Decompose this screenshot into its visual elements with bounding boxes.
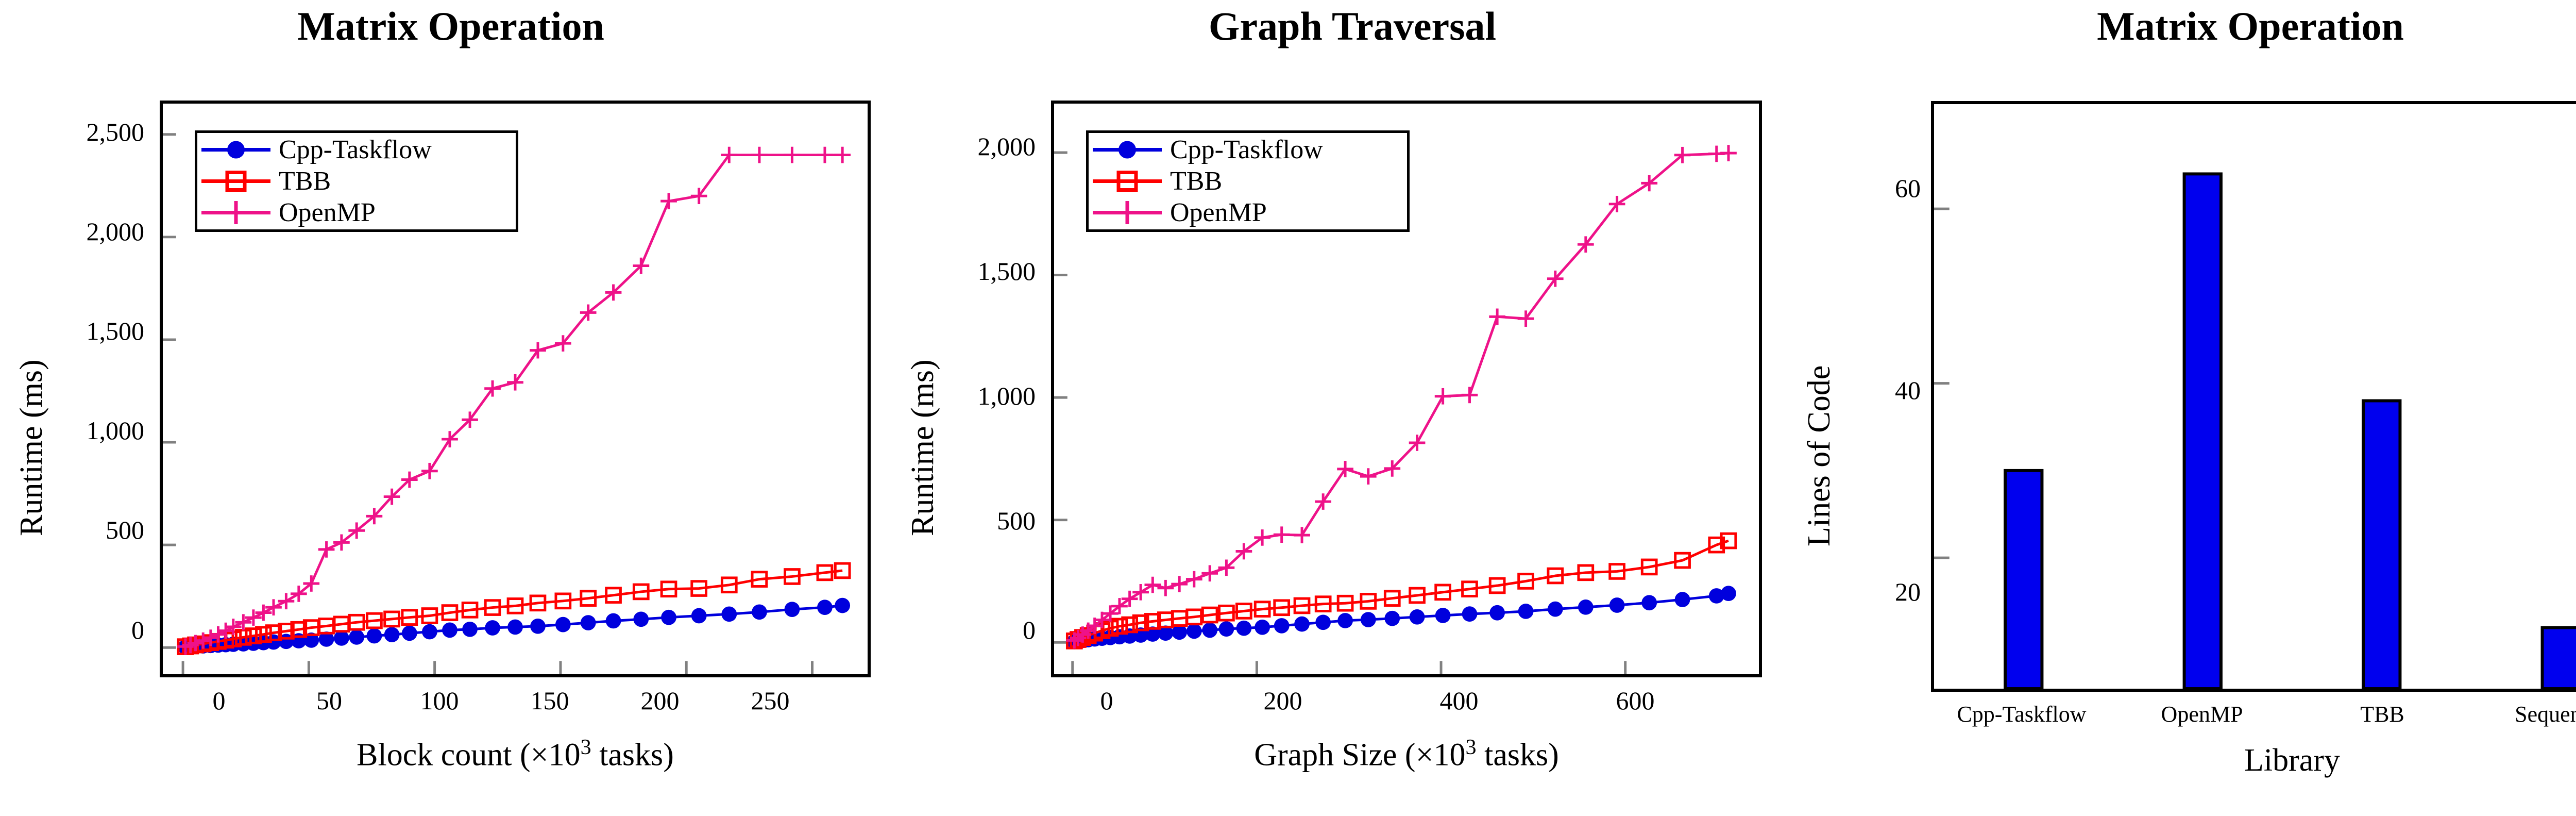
ytick-label: 60 [1808, 173, 1921, 203]
legend-row-openmp: OpenMP [1089, 197, 1407, 228]
legend-label: OpenMP [275, 197, 385, 228]
xtick-label: 0 [1100, 686, 1113, 715]
legend-label: TBB [1166, 166, 1231, 196]
legend-row-openmp: OpenMP [197, 197, 516, 228]
ytick-label: 2,000 [912, 131, 1036, 161]
xtick-label: 600 [1616, 686, 1655, 715]
legend: Cpp-Taskflow TBB OpenMP [1086, 130, 1410, 232]
xtick-label: 50 [316, 686, 342, 715]
plot-area [1931, 101, 2576, 692]
panel-matrix-operation-loc: Matrix Operation 20 40 60 Cpp-Taskflow O… [1803, 0, 2576, 816]
xtick-label: 200 [641, 686, 680, 715]
category-label: Cpp-Taskflow [1957, 701, 2086, 727]
legend-row-taskflow: Cpp-Taskflow [1089, 134, 1407, 165]
xtick-label: 400 [1440, 686, 1479, 715]
y-axis-label: Runtime (ms) [13, 359, 50, 536]
legend-row-tbb: TBB [197, 165, 516, 197]
ytick-label: 2,500 [21, 117, 144, 147]
legend-symbol-open-square [197, 165, 275, 197]
xtick-label: 200 [1264, 686, 1302, 715]
x-axis-label: Graph Size (×103 tasks) [1051, 735, 1762, 774]
legend-label: TBB [275, 166, 340, 196]
ytick-label: 0 [912, 615, 1036, 645]
legend-symbol-filled-circle [1089, 134, 1166, 165]
legend-symbol-open-square [1089, 165, 1166, 197]
ytick-label: 2,000 [21, 217, 144, 246]
legend-label: Cpp-Taskflow [275, 135, 441, 165]
xtick-label: 0 [213, 686, 226, 715]
ytick-label: 1,500 [21, 316, 144, 346]
ytick-label: 20 [1808, 577, 1921, 607]
legend-row-tbb: TBB [1089, 165, 1407, 197]
category-label: OpenMP [2161, 701, 2243, 727]
category-label: Sequential [2515, 701, 2576, 727]
panel-title: Graph Traversal [902, 3, 1803, 49]
legend-symbol-plus [197, 197, 275, 228]
y-axis-label: Lines of Code [1801, 365, 1838, 546]
xtick-label: 250 [751, 686, 790, 715]
xtick-label: 150 [531, 686, 569, 715]
legend-label: OpenMP [1166, 197, 1276, 228]
x-axis-label: Library [1931, 742, 2576, 779]
xtick-label: 100 [420, 686, 459, 715]
ytick-label: 1,500 [912, 256, 1036, 286]
legend-row-taskflow: Cpp-Taskflow [197, 134, 516, 165]
panel-matrix-operation-runtime: Matrix Operation 0 500 1,000 1,500 2,000… [0, 0, 902, 816]
legend: Cpp-Taskflow TBB OpenMP [195, 130, 518, 232]
panel-title: Matrix Operation [1803, 3, 2576, 49]
category-label: TBB [2360, 701, 2404, 727]
y-axis-label: Runtime (ms) [905, 359, 941, 536]
legend-symbol-filled-circle [197, 134, 275, 165]
panel-title: Matrix Operation [0, 3, 902, 49]
legend-label: Cpp-Taskflow [1166, 135, 1332, 165]
ytick-label: 0 [21, 615, 144, 645]
x-axis-label: Block count (×103 tasks) [160, 735, 871, 774]
legend-symbol-plus [1089, 197, 1166, 228]
plot-canvas [1934, 104, 2576, 689]
panel-graph-traversal-runtime: Graph Traversal 0 500 1,000 1,500 2,000 … [902, 0, 1803, 816]
figure-row: Matrix Operation 0 500 1,000 1,500 2,000… [0, 0, 2576, 816]
